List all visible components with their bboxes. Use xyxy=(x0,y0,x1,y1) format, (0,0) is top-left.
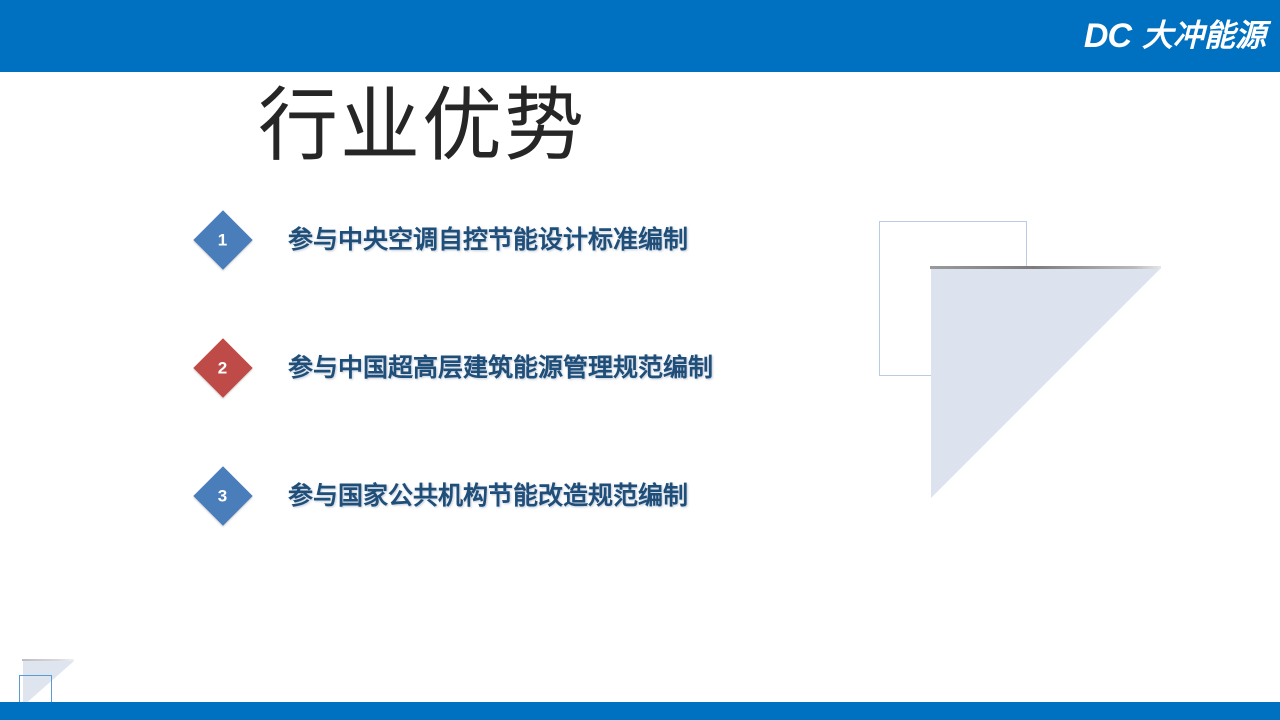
decorative-graphic-left xyxy=(6,648,82,710)
diamond-badge-3: 3 xyxy=(193,466,252,525)
list-item: 2 参与中国超高层建筑能源管理规范编制 xyxy=(196,340,816,396)
diamond-badge-2: 2 xyxy=(193,338,252,397)
decorative-triangle-edge-small xyxy=(22,659,74,661)
brand-logo: DC 大冲能源 xyxy=(1084,14,1266,58)
page-title: 行业优势 xyxy=(258,84,586,168)
logo-company-name: 大冲能源 xyxy=(1142,21,1266,52)
logo-dc-mark: DC xyxy=(1084,19,1133,53)
list-item: 3 参与国家公共机构节能改造规范编制 xyxy=(196,468,816,524)
diamond-number: 2 xyxy=(218,360,227,377)
bullet-list: 1 参与中央空调自控节能设计标准编制 2 参与中国超高层建筑能源管理规范编制 3… xyxy=(196,212,816,596)
decorative-square-outline xyxy=(879,221,1027,376)
decorative-triangle-icon xyxy=(860,200,1200,530)
slide-canvas: DC 大冲能源 行业优势 1 参与中央空调自控节能设计标准编制 2 参与中国超高… xyxy=(0,0,1280,720)
decorative-triangle-edge xyxy=(930,266,1161,269)
diamond-badge-1: 1 xyxy=(193,210,252,269)
diamond-number: 1 xyxy=(218,232,227,249)
bullet-text: 参与中国超高层建筑能源管理规范编制 xyxy=(288,353,713,383)
footer-band xyxy=(0,702,1280,720)
diamond-number: 3 xyxy=(218,488,227,505)
bullet-text: 参与国家公共机构节能改造规范编制 xyxy=(288,481,688,511)
bullet-text: 参与中央空调自控节能设计标准编制 xyxy=(288,225,688,255)
list-item: 1 参与中央空调自控节能设计标准编制 xyxy=(196,212,816,268)
decorative-graphic-right xyxy=(860,200,1200,530)
